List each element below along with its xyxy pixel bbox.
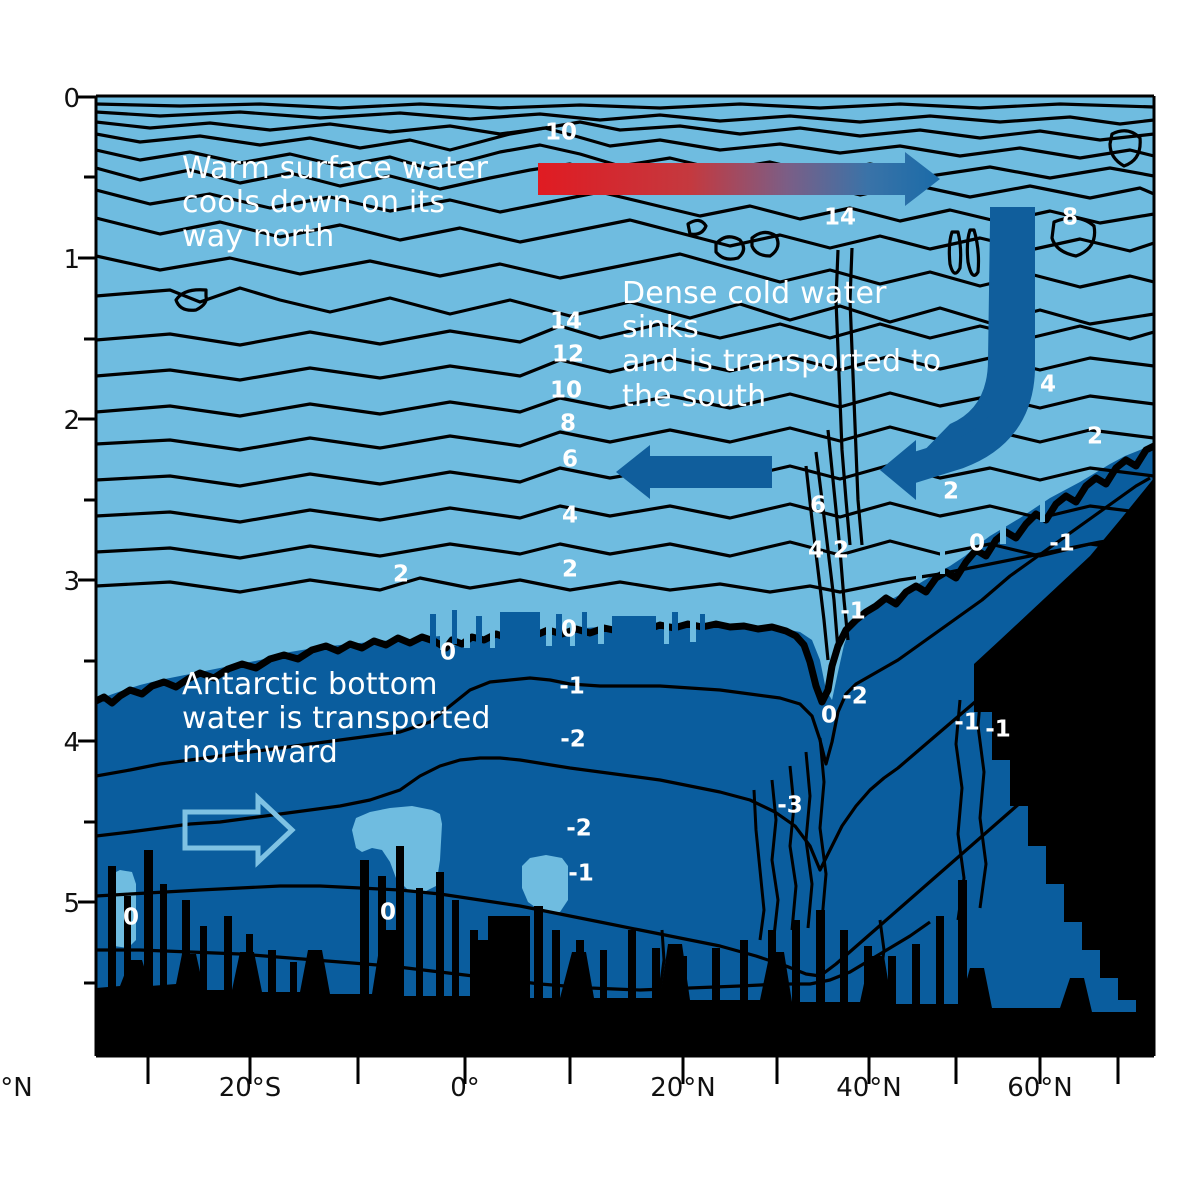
contour-label: -1 [568,863,594,886]
contour-label: 4 [562,505,578,528]
contour-label: 2 [1087,426,1103,449]
contour-label: -1 [954,712,980,735]
contour-label: -1 [985,719,1011,742]
contour-label: 2 [943,481,959,504]
contour-label: 2 [833,540,849,563]
contour-label: 10 [550,380,582,403]
contour-label: 4 [808,540,824,563]
contour-label-layer: 10148141210864246222420-1-100-1-20-1-1-2… [0,0,1200,1200]
contour-label: 4 [1040,374,1056,397]
contour-label: -3 [777,795,803,818]
contour-label: 6 [810,495,826,518]
contour-label: -1 [840,601,866,624]
figure-root: Depth [km] 0 1 2 3 4 5 20°S 0° 20°N 20°N… [0,0,1200,1200]
contour-label: 6 [562,449,578,472]
contour-label: 14 [824,207,856,230]
contour-label: 0 [969,533,985,556]
contour-label: -2 [560,729,586,752]
contour-label: -2 [842,686,868,709]
contour-label: 8 [560,413,576,436]
contour-label: 8 [1062,207,1078,230]
contour-label: 0 [440,642,456,665]
contour-label: 2 [562,559,578,582]
contour-label: 14 [550,311,582,334]
contour-label: -1 [559,676,585,699]
contour-label: 12 [552,344,584,367]
contour-label: 10 [545,122,577,145]
contour-label: 0 [821,705,837,728]
contour-label: 0 [123,907,139,930]
contour-label: -1 [1049,533,1075,556]
contour-label: 0 [380,902,396,925]
contour-label: -2 [566,818,592,841]
contour-label: 2 [393,564,409,587]
contour-label: 0 [561,619,577,642]
